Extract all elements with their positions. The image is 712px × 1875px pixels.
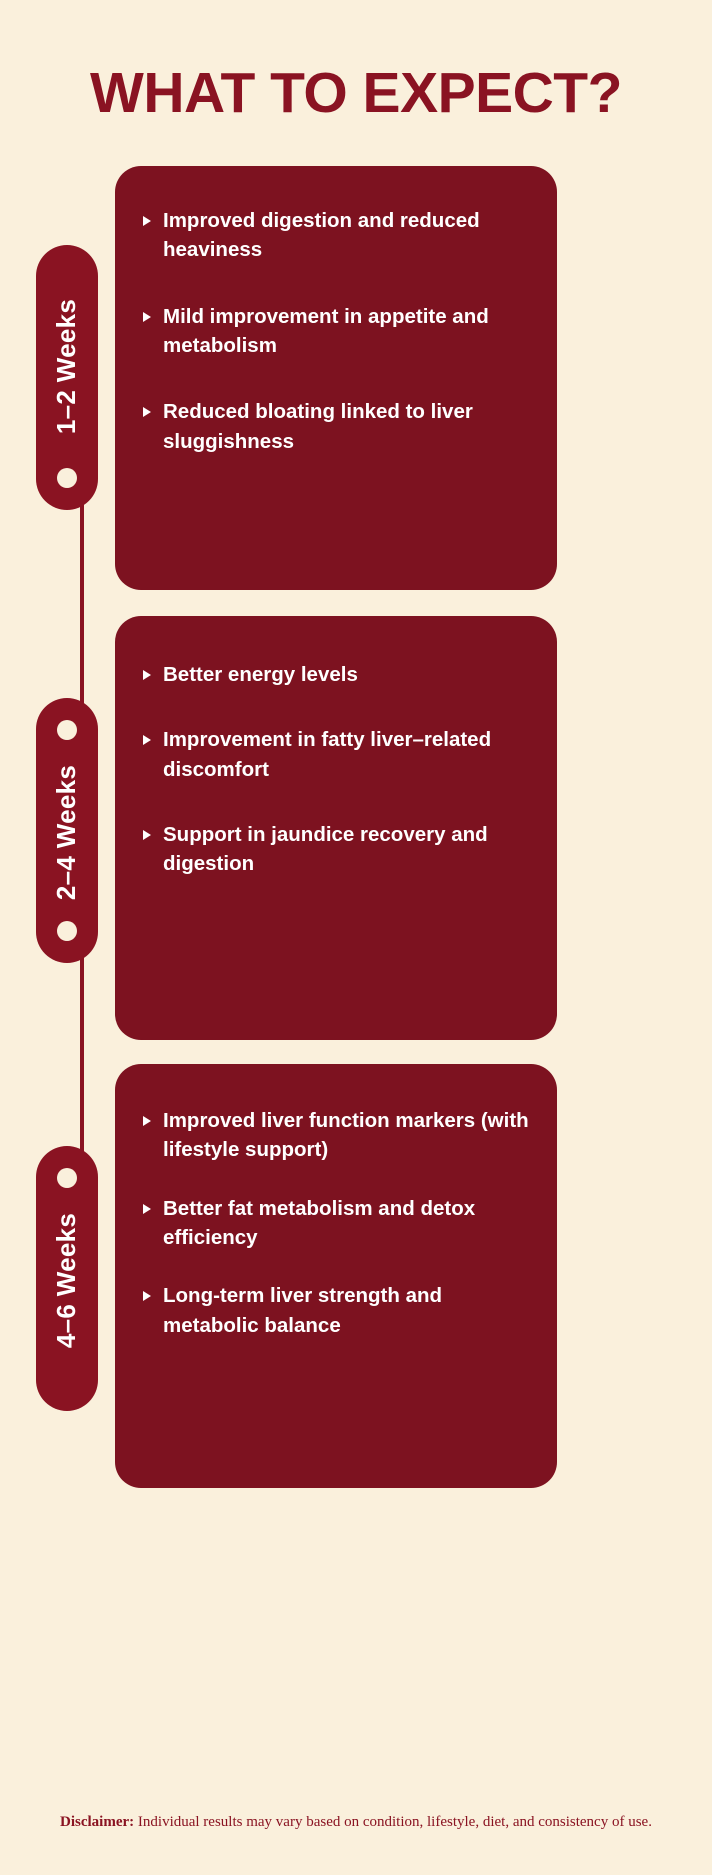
bullet-text: Better fat metabolism and detox efficien… <box>163 1197 475 1249</box>
bullet-text: Improved digestion and reduced heaviness <box>163 209 480 261</box>
timeline-node-dot-icon <box>57 468 77 488</box>
timeline-pill-label-1: 1–2 Weeks <box>52 299 83 434</box>
timeline-pill-2[interactable]: 2–4 Weeks <box>36 698 98 963</box>
disclaimer: Disclaimer: Individual results may vary … <box>56 1812 656 1833</box>
infographic-page: WHAT TO EXPECT? 1–2 Weeks Improved diges… <box>0 0 712 1875</box>
timeline-card-1: Improved digestion and reduced heaviness… <box>115 166 557 590</box>
bullet-list-3: Improved liver function markers (with li… <box>143 1104 529 1340</box>
disclaimer-label: Disclaimer: <box>60 1814 134 1830</box>
timeline-node-dot-icon <box>57 921 77 941</box>
list-item: Improvement in fatty liver–related disco… <box>143 725 529 784</box>
timeline-pill-label-3: 4–6 Weeks <box>52 1213 83 1348</box>
bullet-triangle-icon <box>143 312 151 322</box>
bullet-list-1: Improved digestion and reduced heaviness… <box>143 206 529 456</box>
bullet-text: Reduced bloating linked to liver sluggis… <box>163 400 473 452</box>
timeline-section-1: 1–2 Weeks Improved digestion and reduced… <box>0 166 712 590</box>
bullet-text: Improved liver function markers (with li… <box>163 1109 529 1161</box>
timeline-card-3: Improved liver function markers (with li… <box>115 1064 557 1488</box>
bullet-text: Mild improvement in appetite and metabol… <box>163 305 489 357</box>
bullet-text: Improvement in fatty liver–related disco… <box>163 728 491 780</box>
disclaimer-text: Individual results may vary based on con… <box>134 1814 652 1830</box>
timeline-node-dot-icon <box>57 1168 77 1188</box>
bullet-triangle-icon <box>143 1291 151 1301</box>
bullet-text: Better energy levels <box>163 663 358 686</box>
timeline-node-dot-icon <box>57 720 77 740</box>
bullet-triangle-icon <box>143 735 151 745</box>
list-item: Improved liver function markers (with li… <box>143 1106 529 1165</box>
list-item: Improved digestion and reduced heaviness <box>143 206 529 265</box>
timeline-pill-1[interactable]: 1–2 Weeks <box>36 245 98 510</box>
list-item: Reduced bloating linked to liver sluggis… <box>143 397 529 456</box>
page-title: WHAT TO EXPECT? <box>0 62 712 125</box>
bullet-triangle-icon <box>143 670 151 680</box>
list-item: Long-term liver strength and metabolic b… <box>143 1281 529 1340</box>
list-item: Mild improvement in appetite and metabol… <box>143 302 529 361</box>
bullet-triangle-icon <box>143 1204 151 1214</box>
bullet-text: Long-term liver strength and metabolic b… <box>163 1284 442 1336</box>
bullet-triangle-icon <box>143 830 151 840</box>
timeline-card-2: Better energy levels Improvement in fatt… <box>115 616 557 1040</box>
bullet-triangle-icon <box>143 216 151 226</box>
list-item: Better energy levels <box>143 660 529 689</box>
list-item: Better fat metabolism and detox efficien… <box>143 1194 529 1253</box>
bullet-text: Support in jaundice recovery and digesti… <box>163 823 488 875</box>
timeline-section-2: 2–4 Weeks Better energy levels Improveme… <box>0 616 712 1040</box>
bullet-triangle-icon <box>143 1116 151 1126</box>
timeline-section-3: 4–6 Weeks Improved liver function marker… <box>0 1064 712 1488</box>
timeline-pill-label-2: 2–4 Weeks <box>52 765 83 900</box>
bullet-list-2: Better energy levels Improvement in fatt… <box>143 656 529 879</box>
timeline-pill-3[interactable]: 4–6 Weeks <box>36 1146 98 1411</box>
bullet-triangle-icon <box>143 407 151 417</box>
list-item: Support in jaundice recovery and digesti… <box>143 820 529 879</box>
